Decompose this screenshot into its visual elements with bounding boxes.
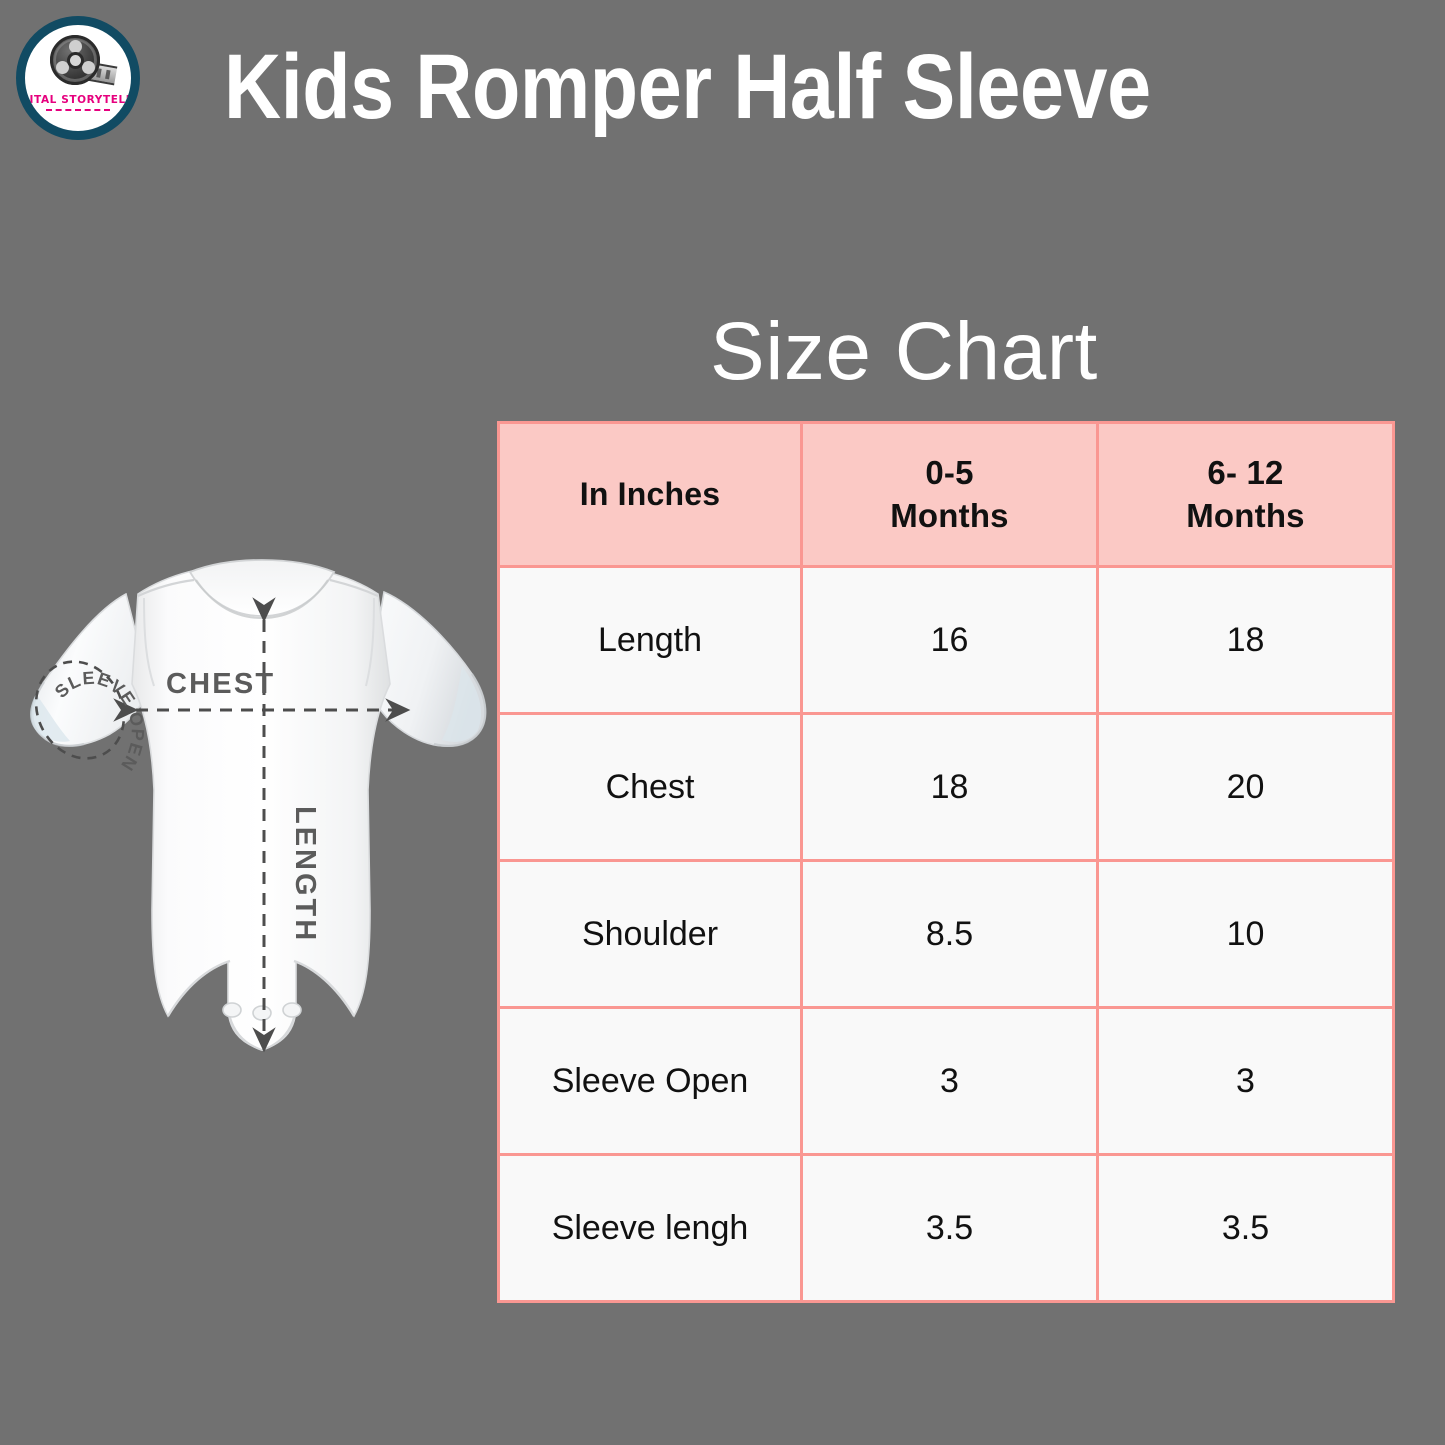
row-value-6-12: 3	[1098, 1008, 1394, 1155]
table-row: Length 16 18	[499, 567, 1394, 714]
row-value-6-12: 20	[1098, 714, 1394, 861]
row-value-0-5: 18	[802, 714, 1098, 861]
chest-label: CHEST	[166, 668, 275, 700]
table-row: Sleeve lengh 3.5 3.5	[499, 1155, 1394, 1302]
row-value-6-12: 18	[1098, 567, 1394, 714]
table-row: Chest 18 20	[499, 714, 1394, 861]
reel-hole	[56, 61, 69, 74]
row-measurement-name: Length	[499, 567, 802, 714]
size-chart-heading: Size Chart	[710, 305, 1098, 399]
reel-hole	[69, 40, 82, 53]
row-measurement-name: Sleeve Open	[499, 1008, 802, 1155]
row-value-6-12: 3.5	[1098, 1155, 1394, 1302]
romper-product-image: CHEST LENGTH SLEEVE OPEN	[18, 558, 510, 1158]
size-chart-table: In Inches 0-5 Months 6- 12 Months Length…	[497, 421, 1395, 1303]
table-row: Sleeve Open 3 3	[499, 1008, 1394, 1155]
page-title: Kids Romper Half Sleeve	[224, 36, 1151, 139]
length-label: LENGTH	[289, 806, 321, 943]
reel-body-icon	[50, 35, 100, 85]
column-header-6-12-line2: Months	[1186, 497, 1305, 534]
row-measurement-name: Sleeve lengh	[499, 1155, 802, 1302]
column-header-measurement-label: In Inches	[580, 476, 721, 512]
brand-logo: DIGITAL STORYTELLER	[16, 16, 140, 140]
row-measurement-name: Shoulder	[499, 861, 802, 1008]
row-value-0-5: 16	[802, 567, 1098, 714]
column-header-measurement: In Inches	[499, 423, 802, 567]
column-header-0-5-line2: Months	[890, 497, 1009, 534]
table-header-row: In Inches 0-5 Months 6- 12 Months	[499, 423, 1394, 567]
column-header-0-5-line1: 0-5	[925, 454, 973, 491]
brand-underline	[46, 109, 110, 111]
row-value-0-5: 3.5	[802, 1155, 1098, 1302]
row-measurement-name: Chest	[499, 714, 802, 861]
reel-hub	[70, 55, 81, 66]
column-header-6-12-months: 6- 12 Months	[1098, 423, 1394, 567]
row-value-6-12: 10	[1098, 861, 1394, 1008]
column-header-0-5-months: 0-5 Months	[802, 423, 1098, 567]
reel-hole	[82, 61, 95, 74]
row-value-0-5: 8.5	[802, 861, 1098, 1008]
film-reel-icon	[42, 35, 114, 91]
table-row: Shoulder 8.5 10	[499, 861, 1394, 1008]
row-value-0-5: 3	[802, 1008, 1098, 1155]
brand-name: DIGITAL STORYTELLER	[16, 94, 140, 106]
column-header-6-12-line1: 6- 12	[1207, 454, 1283, 491]
